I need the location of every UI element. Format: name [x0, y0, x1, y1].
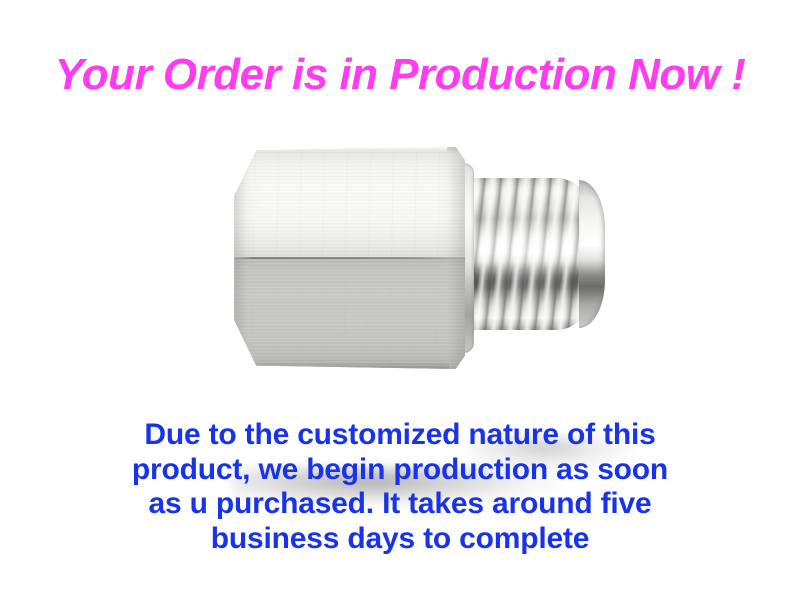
- hex-top-rim-highlight: [247, 147, 447, 153]
- page-title: Your Order is in Production Now !: [0, 50, 800, 101]
- hex-right-chamfer: [435, 147, 465, 369]
- hex-body-surface: [233, 147, 465, 369]
- promo-banner-canvas: Your Order is in Production Now !: [0, 0, 800, 600]
- hex-left-chamfer: [233, 147, 259, 369]
- production-notice: Due to the customized nature of this pro…: [0, 418, 800, 556]
- notice-line-4: business days to complete: [0, 522, 800, 557]
- notice-line-3: as u purchased. It takes around five: [0, 487, 800, 522]
- notice-line-1: Due to the customized nature of this: [0, 418, 800, 453]
- hex-surface-scratches: [233, 147, 465, 369]
- notice-line-2: product, we begin production as soon: [0, 453, 800, 488]
- thread-end-cap: [579, 180, 605, 328]
- product-image: [0, 115, 800, 405]
- threaded-male-end: [455, 178, 603, 330]
- hex-bottom-rim-shadow: [245, 362, 449, 369]
- hex-body: [233, 147, 465, 369]
